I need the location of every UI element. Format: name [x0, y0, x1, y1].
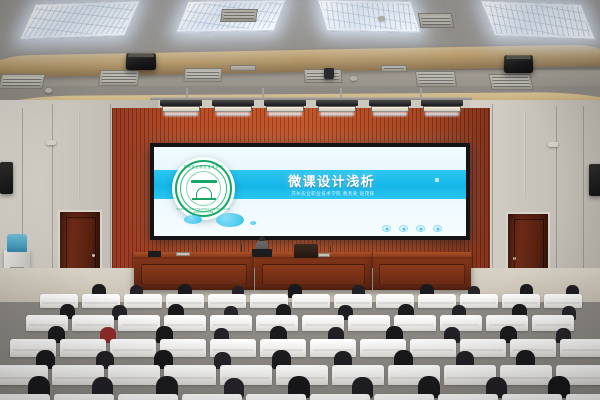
seat-row-4: [0, 350, 600, 376]
stage-light-5: [367, 100, 413, 117]
stage-light-glow: [373, 112, 407, 116]
troffer-light-4: [480, 0, 596, 39]
desk-nameplate-1: [176, 252, 190, 256]
smoke-detector-2: [350, 76, 357, 81]
stage-light-glow: [268, 112, 302, 116]
emblem-archway-roof: [191, 180, 217, 183]
seat-row-6: [0, 304, 600, 326]
emblem-archway-base: [192, 198, 216, 200]
slim-vent-left: [230, 65, 256, 71]
presenter-laptop[interactable]: [252, 249, 272, 257]
slide-footer-icon-3: [416, 225, 425, 232]
university-emblem: 苏州农业职业技术学院 SUZHOU POLYTECHNIC INSTITUTE …: [172, 157, 235, 220]
security-camera-left: [46, 140, 56, 145]
emblem-archway-icon: [191, 180, 217, 200]
speaker-grille-right: [506, 55, 530, 59]
smoke-detector-1: [378, 16, 385, 21]
stage-light-glow: [320, 112, 354, 116]
wall-seam-2: [52, 104, 53, 289]
emblem-text-chinese: 苏州农业职业技术学院: [172, 164, 235, 169]
lecture-hall-photo: 苏州农业职业技术学院 SUZHOU POLYTECHNIC INSTITUTE …: [0, 0, 600, 400]
stage-light-glow: [425, 112, 459, 116]
audience-seat[interactable]: [502, 394, 562, 400]
audience-seat[interactable]: [246, 394, 306, 400]
audience-seat[interactable]: [310, 394, 370, 400]
stage-chair[interactable]: [294, 244, 318, 258]
door-knob-right: [513, 257, 516, 260]
wall-speaker-right: [589, 164, 600, 196]
door-knob-left: [92, 254, 95, 257]
wall-conduit-right: [524, 112, 526, 198]
ceiling-vent-6: [488, 74, 533, 90]
audience-seat[interactable]: [118, 394, 178, 400]
audience-seat[interactable]: [566, 394, 600, 400]
ceiling-speaker-right: [504, 55, 534, 73]
wall-seam-6: [583, 106, 584, 286]
speaker-grille-left: [129, 53, 154, 57]
side-laptop[interactable]: [148, 251, 161, 257]
stage-light-2: [210, 100, 256, 117]
ceiling-vent-upper-right: [418, 13, 455, 28]
desk-nameplate-2: [318, 253, 330, 257]
seat-row-7: [0, 284, 600, 304]
ceiling-vent-5: [415, 71, 457, 87]
audience-seat[interactable]: [0, 394, 50, 400]
stage-light-glow: [164, 112, 198, 116]
troffer-light-1: [19, 0, 141, 40]
audience-seat[interactable]: [438, 394, 498, 400]
ceiling-vent-3: [183, 68, 222, 82]
projection-screen-frame: 苏州农业职业技术学院 SUZHOU POLYTECHNIC INSTITUTE …: [150, 143, 470, 240]
seat-row-5: [0, 326, 600, 350]
truss-hanger-3: [340, 88, 342, 98]
ceiling-projector: [324, 68, 334, 79]
ceiling-speaker-left: [126, 53, 157, 70]
wall-seam-5: [556, 106, 557, 286]
ceiling-vent-1: [0, 74, 46, 89]
wall-speaker-left: [0, 162, 13, 194]
ceiling-vent-2: [98, 70, 140, 86]
wall-conduit-left: [78, 110, 80, 198]
slide-footer-icon-1: [382, 225, 391, 232]
stage-light-6: [419, 100, 465, 117]
truss-hanger-1: [186, 88, 188, 98]
slide-title-accent-dot: [435, 178, 439, 182]
audience-seating: [0, 282, 600, 400]
water-jug: [7, 234, 27, 252]
security-camera-right: [548, 142, 558, 147]
stage-light-3: [262, 100, 308, 117]
audience-seat[interactable]: [54, 394, 114, 400]
slide-bubble-small: [250, 221, 256, 225]
audience-seat[interactable]: [182, 394, 242, 400]
wall-seam-3: [110, 104, 111, 289]
slide-subtitle: 苏州农业职业技术学院 教务处 赵茂辉: [291, 191, 375, 197]
projection-screen: 苏州农业职业技术学院 SUZHOU POLYTECHNIC INSTITUTE …: [154, 147, 466, 236]
stage-light-4: [314, 100, 360, 117]
truss-hanger-4: [420, 88, 422, 98]
ceiling-vent-upper-center: [220, 9, 258, 22]
slide-bubble-medium: [184, 215, 202, 224]
slide-main-title: 微课设计浅析: [288, 171, 375, 190]
audience-seat[interactable]: [374, 394, 434, 400]
wall-seam-4: [492, 104, 493, 294]
stage-light-1: [158, 100, 204, 117]
stage-light-glow: [216, 112, 250, 116]
ceiling-vent-4: [304, 69, 343, 83]
troffer-light-3: [317, 0, 421, 33]
desk-surface: [373, 252, 471, 257]
smoke-detector-3: [45, 88, 52, 93]
slide-bubble-large: [216, 213, 244, 227]
seat-row-3: [0, 376, 600, 400]
slide-footer-icon-4: [433, 225, 442, 232]
slide-footer-icon-2: [399, 225, 408, 232]
truss-hanger-2: [262, 88, 264, 98]
slim-vent-right: [381, 65, 408, 72]
